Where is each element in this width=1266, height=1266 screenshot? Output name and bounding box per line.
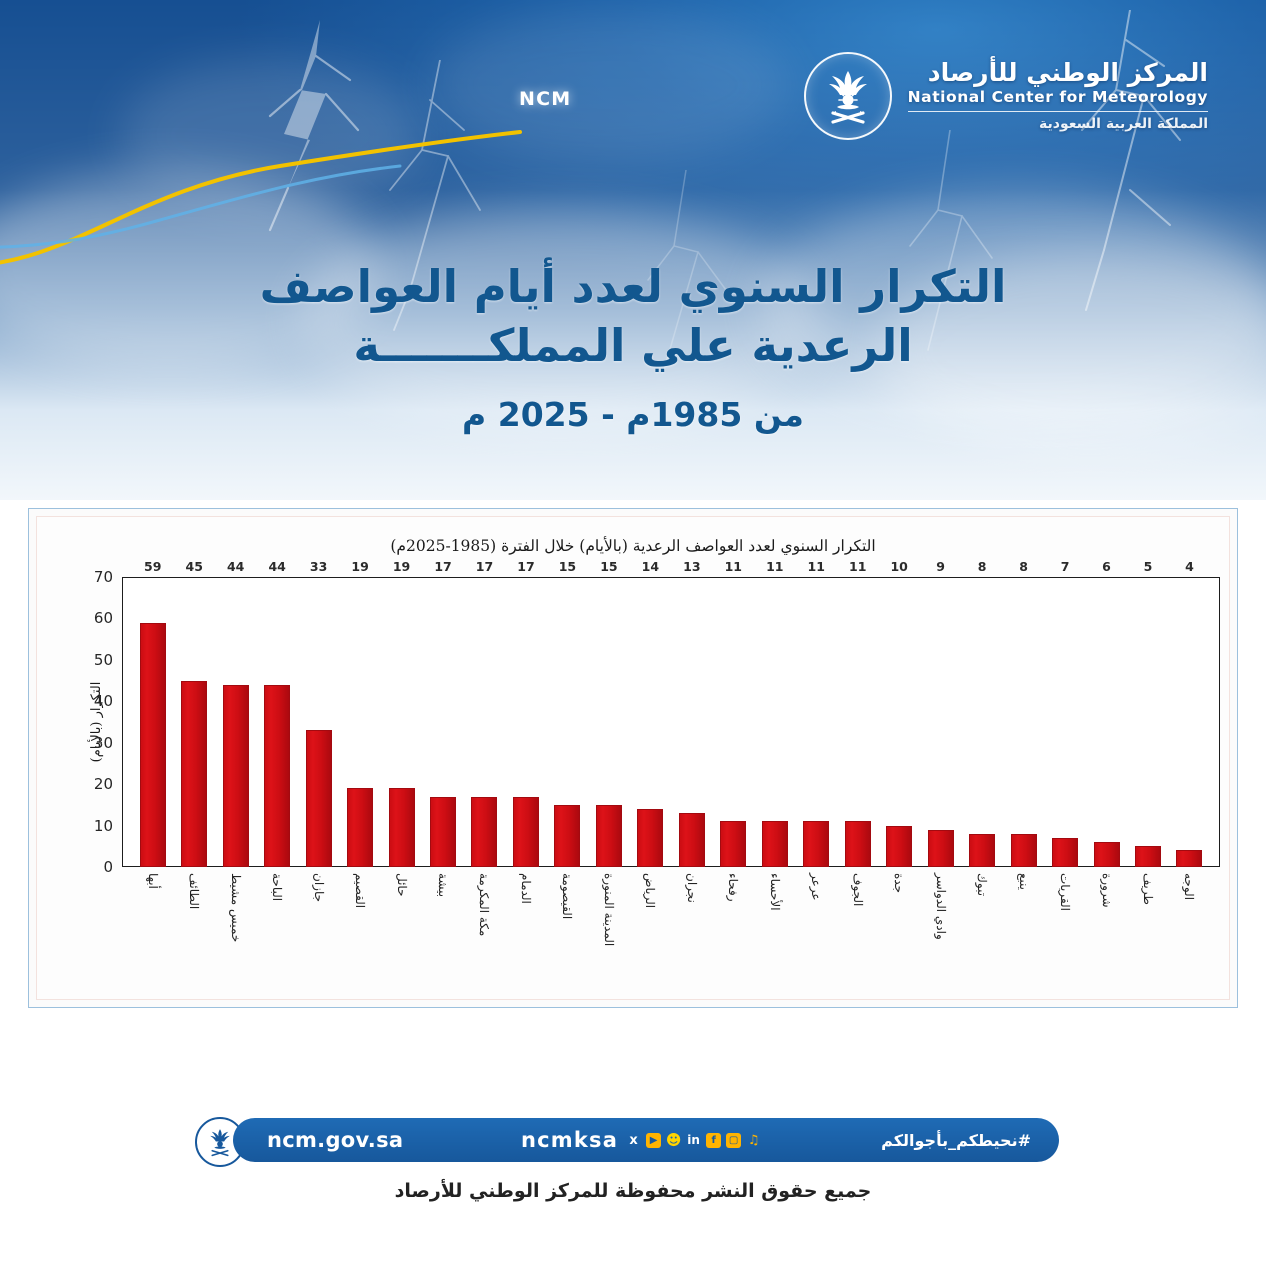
bar-value-label: 44 — [268, 559, 285, 574]
bar-value-label: 9 — [936, 559, 945, 574]
x-axis-label-slot: القريات — [1044, 869, 1085, 979]
bar[interactable]: 7 — [1052, 838, 1078, 867]
bar-item[interactable]: 44 — [215, 577, 256, 867]
x-axis-tick-label: تبوك — [975, 873, 989, 896]
bar[interactable]: 17 — [513, 797, 539, 867]
x-axis-tick-label: القريات — [1058, 873, 1072, 911]
bar[interactable]: 11 — [762, 821, 788, 867]
x-axis-tick-label: الأحساء — [768, 873, 782, 911]
x-axis-tick-label: مكة المكرمة — [477, 873, 491, 936]
page-title: التكرار السنوي لعدد أيام العواصف الرعدية… — [170, 258, 1096, 375]
logo-english-name: National Center for Meteorology — [908, 89, 1208, 111]
bar[interactable]: 14 — [637, 809, 663, 867]
chart-title: التكرار السنوي لعدد العواصف الرعدية (بال… — [37, 537, 1229, 555]
x-axis-tick-label: شرورة — [1100, 873, 1114, 908]
bar-item[interactable]: 11 — [713, 577, 754, 867]
y-axis-tick: 50 — [94, 651, 122, 669]
ncm-watermark: NCM — [519, 88, 571, 110]
page-title-line1: التكرار السنوي لعدد أيام العواصف — [260, 260, 1007, 313]
bar[interactable]: 8 — [969, 834, 995, 867]
x-axis-label-slot: الرياض — [630, 869, 671, 979]
bar-item[interactable]: 8 — [1003, 577, 1044, 867]
bar-value-label: 4 — [1185, 559, 1194, 574]
bar-item[interactable]: 10 — [878, 577, 919, 867]
bar[interactable]: 4 — [1176, 850, 1202, 867]
bar[interactable]: 44 — [264, 685, 290, 867]
x-axis-tick-label: عرعر — [809, 873, 823, 901]
logo-arabic-name: المركز الوطني للأرصاد — [908, 59, 1208, 87]
x-axis-label-slot: الدمام — [505, 869, 546, 979]
bar[interactable]: 19 — [389, 788, 415, 867]
ncm-logo: المركز الوطني للأرصاد National Center fo… — [804, 52, 1208, 140]
snapchat-icon[interactable]: ☻ — [666, 1133, 681, 1148]
x-axis-label-slot: الطائف — [173, 869, 214, 979]
x-axis-tick-label: الرياض — [643, 873, 657, 908]
bar[interactable]: 17 — [430, 797, 456, 867]
bar-value-label: 11 — [808, 559, 825, 574]
x-axis-label-slot: شرورة — [1086, 869, 1127, 979]
bar-item[interactable]: 19 — [381, 577, 422, 867]
bar-item[interactable]: 4 — [1169, 577, 1210, 867]
x-axis-label-slot: الأحساء — [754, 869, 795, 979]
x-axis-tick-label: نجران — [685, 873, 699, 903]
bar-value-label: 19 — [393, 559, 410, 574]
bar-value-label: 11 — [849, 559, 866, 574]
bar-item[interactable]: 14 — [630, 577, 671, 867]
bar-item[interactable]: 45 — [173, 577, 214, 867]
y-axis-tick: 10 — [94, 817, 122, 835]
bar-item[interactable]: 6 — [1086, 577, 1127, 867]
y-axis-tick: 40 — [94, 692, 122, 710]
bar-value-label: 10 — [890, 559, 907, 574]
bar-value-label: 6 — [1102, 559, 1111, 574]
bar[interactable]: 11 — [845, 821, 871, 867]
bar-item[interactable]: 13 — [671, 577, 712, 867]
footer-social-handle: ncmksa — [521, 1128, 618, 1152]
x-axis-label-slot: ينبع — [1003, 869, 1044, 979]
bar[interactable]: 19 — [347, 788, 373, 867]
infographic-poster: NCM المركز الوطني للأرصاد National Cente… — [0, 0, 1266, 1266]
bar-item[interactable]: 17 — [505, 577, 546, 867]
page-title-line2: الرعدية علي المملكـــــــة — [353, 319, 912, 372]
x-axis-labels: أبهاالطائفخميس مشيطالباحةجازانالقصيمحائل… — [122, 869, 1220, 979]
bar-item[interactable]: 15 — [588, 577, 629, 867]
facebook-icon[interactable]: f — [706, 1133, 721, 1148]
x-axis-label-slot: مكة المكرمة — [464, 869, 505, 979]
x-axis-tick-label: الدمام — [519, 873, 533, 904]
bar[interactable]: 13 — [679, 813, 705, 867]
x-axis-label-slot: جازان — [298, 869, 339, 979]
chart-plot-area: التكرار (بالأيام) 010203040506070 594544… — [122, 577, 1220, 867]
x-axis-tick-label: خميس مشيط — [229, 873, 243, 942]
linkedin-icon[interactable]: in — [686, 1133, 701, 1148]
x-axis-label-slot: القيصومة — [547, 869, 588, 979]
bar-value-label: 8 — [1019, 559, 1028, 574]
x-axis-label-slot: حائل — [381, 869, 422, 979]
page-subtitle: من 1985م - 2025 م — [170, 395, 1096, 434]
bar-item[interactable]: 11 — [837, 577, 878, 867]
bar-value-label: 11 — [766, 559, 783, 574]
bar-item[interactable]: 44 — [256, 577, 297, 867]
x-axis-tick-label: الطائف — [187, 873, 201, 909]
bar-item[interactable]: 19 — [339, 577, 380, 867]
instagram-icon[interactable]: ▢ — [726, 1133, 741, 1148]
bar[interactable]: 17 — [471, 797, 497, 867]
x-axis-label-slot: المدينة المنورة — [588, 869, 629, 979]
x-axis-label-slot: الوجه — [1169, 869, 1210, 979]
logo-country-name: المملكة العربية السعودية — [908, 117, 1208, 133]
bar[interactable]: 15 — [554, 805, 580, 867]
x-axis-tick-label: رفحاء — [726, 873, 740, 902]
logo-text-block: المركز الوطني للأرصاد National Center fo… — [908, 59, 1208, 132]
x-axis-label-slot: الباحة — [256, 869, 297, 979]
x-axis-label-slot: طريف — [1127, 869, 1168, 979]
x-axis-tick-label: الجوف — [851, 873, 865, 906]
chart-panel-inner: التكرار السنوي لعدد العواصف الرعدية (بال… — [36, 516, 1230, 1000]
x-axis-label-slot: أبها — [132, 869, 173, 979]
tiktok-icon[interactable]: ♫ — [746, 1133, 761, 1148]
x-axis-label-slot: تبوك — [961, 869, 1002, 979]
bar[interactable]: 15 — [596, 805, 622, 867]
y-axis-tick: 60 — [94, 609, 122, 627]
bar-item[interactable]: 17 — [422, 577, 463, 867]
bar-value-label: 17 — [517, 559, 534, 574]
bar-value-label: 19 — [351, 559, 368, 574]
bar-item[interactable]: 11 — [754, 577, 795, 867]
bar[interactable]: 10 — [886, 826, 912, 867]
y-axis-tick: 0 — [103, 858, 122, 876]
bar-value-label: 15 — [559, 559, 576, 574]
x-axis-tick-label: القيصومة — [560, 873, 574, 919]
bar-value-label: 8 — [978, 559, 987, 574]
x-axis-label-slot: عرعر — [796, 869, 837, 979]
bar[interactable]: 11 — [803, 821, 829, 867]
bar-item[interactable]: 8 — [961, 577, 1002, 867]
footer-hashtag: #نحيطكم_بأجوالكم — [881, 1131, 1031, 1150]
footer-social-group: ncmksa x ▶ ☻ in f ▢ ♫ — [521, 1128, 761, 1152]
x-axis-tick-label: جدة — [892, 873, 906, 893]
saudi-emblem-icon — [804, 52, 892, 140]
bar-value-label: 33 — [310, 559, 327, 574]
x-axis-tick-label: بيشة — [436, 873, 450, 897]
x-axis-label-slot: جدة — [878, 869, 919, 979]
copyright-text: جميع حقوق النشر محفوظة للمركز الوطني للأ… — [0, 1180, 1266, 1202]
x-axis-label-slot: وادي الدواسر — [920, 869, 961, 979]
bar[interactable]: 9 — [928, 830, 954, 867]
bar-value-label: 59 — [144, 559, 161, 574]
bar-value-label: 17 — [476, 559, 493, 574]
bar-value-label: 45 — [186, 559, 203, 574]
bar-item[interactable]: 7 — [1044, 577, 1085, 867]
y-axis-tick: 70 — [94, 568, 122, 586]
bar-value-label: 17 — [434, 559, 451, 574]
bar-value-label: 7 — [1061, 559, 1070, 574]
bar-series: 5945444433191917171715151413111111111098… — [122, 577, 1220, 867]
x-axis-label-slot: خميس مشيط — [215, 869, 256, 979]
x-axis-label-slot: القصيم — [339, 869, 380, 979]
footer-bar: ncm.gov.sa ncmksa x ▶ ☻ in f ▢ ♫ #نحيطكم… — [233, 1118, 1059, 1162]
bar-item[interactable]: 33 — [298, 577, 339, 867]
x-axis-tick-label: جازان — [312, 873, 326, 902]
bar[interactable]: 45 — [181, 681, 207, 867]
bar-item[interactable]: 17 — [464, 577, 505, 867]
bar-item[interactable]: 15 — [547, 577, 588, 867]
x-axis-tick-label: حائل — [395, 873, 409, 897]
x-axis-label-slot: بيشة — [422, 869, 463, 979]
bar[interactable]: 8 — [1011, 834, 1037, 867]
bar-value-label: 5 — [1144, 559, 1153, 574]
x-axis-tick-label: القصيم — [353, 873, 367, 908]
x-icon[interactable]: x — [626, 1133, 641, 1148]
bar-item[interactable]: 11 — [796, 577, 837, 867]
bar[interactable]: 5 — [1135, 846, 1161, 867]
bar-value-label: 11 — [725, 559, 742, 574]
x-axis-tick-label: طريف — [1141, 873, 1155, 905]
bar-item[interactable]: 59 — [132, 577, 173, 867]
x-axis-label-slot: الجوف — [837, 869, 878, 979]
x-axis-tick-label: أبها — [146, 873, 160, 889]
bar-value-label: 15 — [600, 559, 617, 574]
bar[interactable]: 44 — [223, 685, 249, 867]
x-axis-label-slot: نجران — [671, 869, 712, 979]
x-axis-tick-label: ينبع — [1017, 873, 1031, 890]
bar[interactable]: 11 — [720, 821, 746, 867]
bar-value-label: 14 — [642, 559, 659, 574]
y-axis-tick: 20 — [94, 775, 122, 793]
x-axis-tick-label: الوجه — [1182, 873, 1196, 900]
footer-website-link[interactable]: ncm.gov.sa — [267, 1128, 403, 1152]
x-axis-label-slot: رفحاء — [713, 869, 754, 979]
x-axis-tick-label: المدينة المنورة — [602, 873, 616, 946]
bar[interactable]: 59 — [140, 623, 166, 867]
x-axis-tick-label: الباحة — [270, 873, 284, 901]
bar[interactable]: 6 — [1094, 842, 1120, 867]
poster-title-block: التكرار السنوي لعدد أيام العواصف الرعدية… — [0, 258, 1266, 434]
y-axis-tick: 30 — [94, 734, 122, 752]
bar-item[interactable]: 9 — [920, 577, 961, 867]
bar[interactable]: 33 — [306, 730, 332, 867]
x-axis-tick-label: وادي الدواسر — [934, 873, 948, 940]
bar-value-label: 44 — [227, 559, 244, 574]
chart-panel: التكرار السنوي لعدد العواصف الرعدية (بال… — [28, 508, 1238, 1008]
bar-item[interactable]: 5 — [1127, 577, 1168, 867]
bar-value-label: 13 — [683, 559, 700, 574]
youtube-icon[interactable]: ▶ — [646, 1133, 661, 1148]
